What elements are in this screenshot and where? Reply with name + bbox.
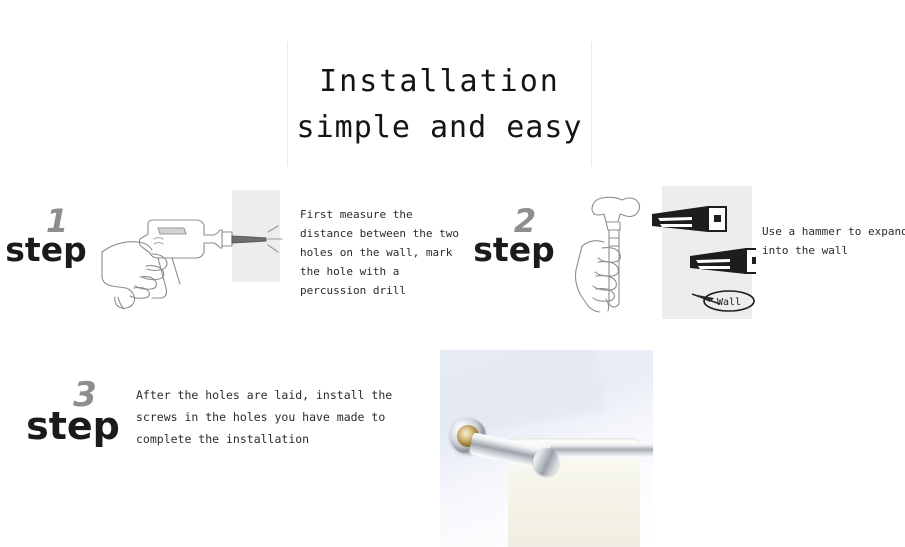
step-3-word: step [18, 407, 128, 445]
header-section: Installation simple and easy [0, 0, 905, 182]
title-line-1: Installation [319, 59, 560, 105]
page-title: Installation simple and easy [287, 44, 592, 166]
step-3-text: After the holes are laid, install the sc… [136, 384, 404, 450]
hand-holding-drill-icon [96, 192, 286, 317]
step-2-word: step [470, 233, 558, 266]
photo-bar-end-knob [533, 448, 559, 476]
mounted-towel-bar-photo [440, 350, 653, 547]
step-1-text: First measure the distance between the t… [300, 205, 466, 300]
step-1-badge: 1 step [0, 205, 92, 266]
step-2-text: Use a hammer to expand into the wall [762, 222, 905, 260]
title-line-2: simple and easy [297, 105, 583, 151]
wall-callout-label: Wall [702, 290, 756, 312]
step-1-word: step [0, 233, 92, 266]
step-3-badge: 3 step [18, 378, 128, 445]
installation-instructions-page: Installation simple and easy 1 step [0, 0, 905, 547]
step-2-badge: 2 step [470, 205, 558, 266]
photo-towel-bar-rod [550, 442, 653, 458]
wall-callout-text: Wall [717, 297, 741, 308]
